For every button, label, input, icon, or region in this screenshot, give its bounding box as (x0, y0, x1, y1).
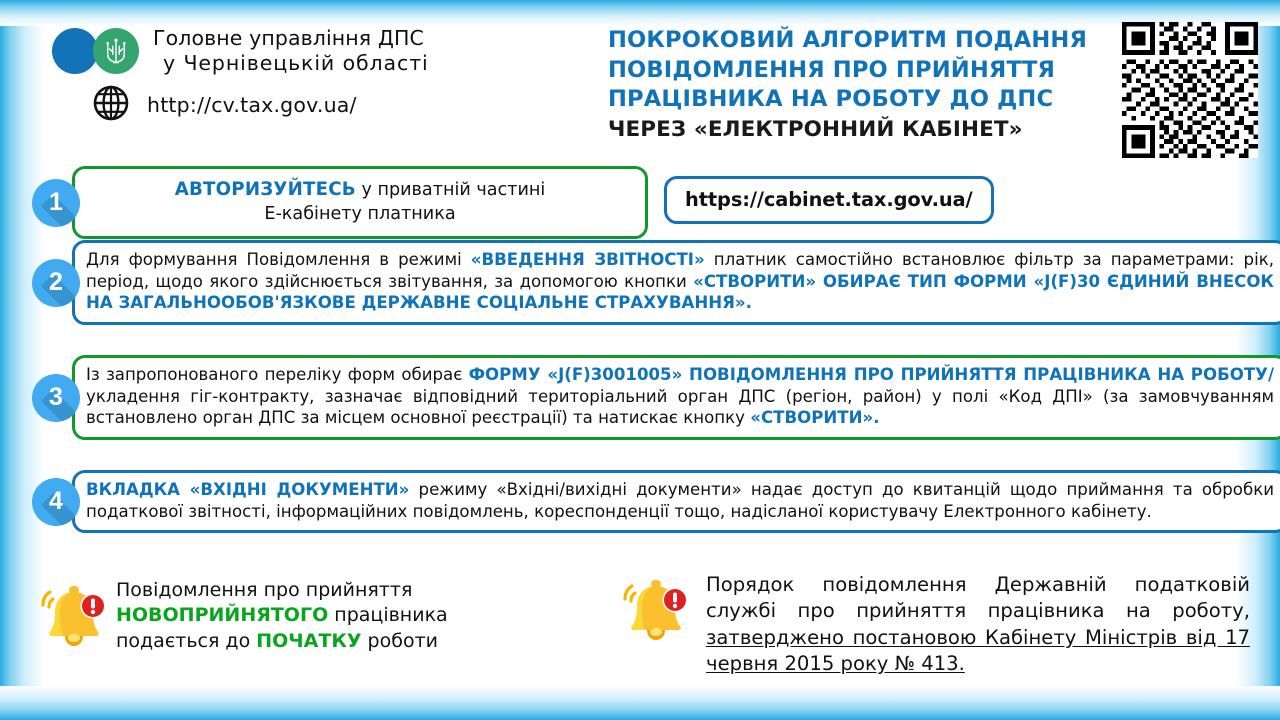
title-subtitle: ЧЕРЕЗ «ЕЛЕКТРОННИЙ КАБІНЕТ» (608, 116, 1118, 144)
org-line-1: Головне управління ДПС (153, 26, 429, 51)
step-4: 4 ВКЛАДКА «ВХІДНІ ДОКУМЕНТИ» режиму «Вхі… (32, 470, 1280, 533)
step-2-number: 2 (49, 270, 63, 295)
note-left: Повідомлення про прийняття НОВОПРИЙНЯТОГ… (38, 578, 598, 656)
qr-code[interactable] (1122, 22, 1258, 158)
note-left-line-2-rest: працівника (328, 604, 447, 626)
step-4-emphasis-1: ВКЛАДКА «ВХІДНІ ДОКУМЕНТИ» (86, 480, 409, 499)
step-1-line-2: Е-кабінету платника (87, 203, 633, 227)
step-3-number: 3 (49, 385, 63, 410)
step-1: 1 АВТОРИЗУЙТЕСЬ у приватній частині Е-ка… (32, 166, 648, 239)
org-line-2: у Чернівецькій області (153, 51, 429, 76)
step-3-text-1: Із запропонованого переліку форм обирає (86, 365, 469, 384)
note-left-line-3-start: подається до (116, 630, 256, 652)
step-3-emphasis-2: «СТВОРИТИ». (750, 408, 879, 427)
bell-alert-icon (620, 572, 692, 650)
note-right-plain: Порядок повідомлення Державній податкові… (706, 573, 1250, 622)
step-1-badge: 1 (32, 179, 80, 227)
ukraine-trident-icon (93, 28, 139, 74)
infographic-poster: Головне управління ДПС у Чернівецькій об… (0, 0, 1280, 720)
step-4-number: 4 (49, 489, 63, 514)
step-4-box: ВКЛАДКА «ВХІДНІ ДОКУМЕНТИ» режиму «Вхідн… (72, 470, 1280, 533)
poster-title: ПОКРОКОВИЙ АЛГОРИТМ ПОДАННЯ ПОВІДОМЛЕННЯ… (608, 26, 1118, 144)
title-line-3: ПРАЦІВНИКА НА РОБОТУ ДО ДПС (608, 85, 1118, 115)
note-right-underlined: затверджено постановою Кабінету Міністрі… (706, 626, 1250, 675)
note-left-line-1: Повідомлення про прийняття (116, 578, 448, 603)
note-left-emphasis-1: НОВОПРИЙНЯТОГО (116, 604, 328, 626)
blue-circle-logo (52, 28, 98, 74)
step-1-emphasis: АВТОРИЗУЙТЕСЬ (175, 179, 356, 200)
cabinet-url-badge[interactable]: https://cabinet.tax.gov.ua/ (664, 176, 994, 224)
step-3-emphasis-1: ФОРМУ «J(F)3001005» ПОВІДОМЛЕННЯ ПРО ПРИ… (469, 365, 1274, 384)
organization-block: Головне управління ДПС у Чернівецькій об… (52, 26, 429, 126)
step-3-box: Із запропонованого переліку форм обирає … (72, 355, 1280, 440)
step-2: 2 Для формування Повідомлення в режимі «… (32, 240, 1280, 325)
step-4-badge: 4 (32, 478, 80, 526)
step-3: 3 Із запропонованого переліку форм обира… (32, 355, 1280, 440)
step-3-badge: 3 (32, 374, 80, 422)
step-2-badge: 2 (32, 259, 80, 307)
note-left-line-3-end: роботи (362, 630, 438, 652)
step-2-box: Для формування Повідомлення в режимі «ВВ… (72, 240, 1280, 325)
website-url[interactable]: http://cv.tax.gov.ua/ (147, 93, 357, 117)
title-line-2: ПОВІДОМЛЕННЯ ПРО ПРИЙНЯТТЯ (608, 56, 1118, 86)
step-1-text-rest: у приватній частині (356, 180, 545, 200)
note-left-emphasis-2: ПОЧАТКУ (256, 630, 361, 652)
globe-icon (92, 84, 130, 126)
title-line-1: ПОКРОКОВИЙ АЛГОРИТМ ПОДАННЯ (608, 26, 1118, 56)
step-3-text-2: укладення гіг-контракту, зазначає відпов… (86, 387, 1274, 428)
note-right: Порядок повідомлення Державній податкові… (620, 572, 1250, 677)
step-1-number: 1 (49, 190, 63, 215)
step-1-box: АВТОРИЗУЙТЕСЬ у приватній частині Е-кабі… (72, 166, 648, 239)
poster-header: Головне управління ДПС у Чернівецькій об… (0, 0, 1280, 158)
organization-name: Головне управління ДПС у Чернівецькій об… (153, 26, 429, 77)
step-2-text-1: Для формування Повідомлення в режимі (86, 250, 471, 269)
step-2-emphasis-1: «ВВЕДЕННЯ ЗВІТНОСТІ» (471, 250, 705, 269)
website-row: http://cv.tax.gov.ua/ (92, 84, 429, 126)
note-right-text: Порядок повідомлення Державній податкові… (706, 572, 1250, 677)
note-left-text: Повідомлення про прийняття НОВОПРИЙНЯТОГ… (116, 578, 448, 654)
bell-alert-icon (38, 578, 110, 656)
